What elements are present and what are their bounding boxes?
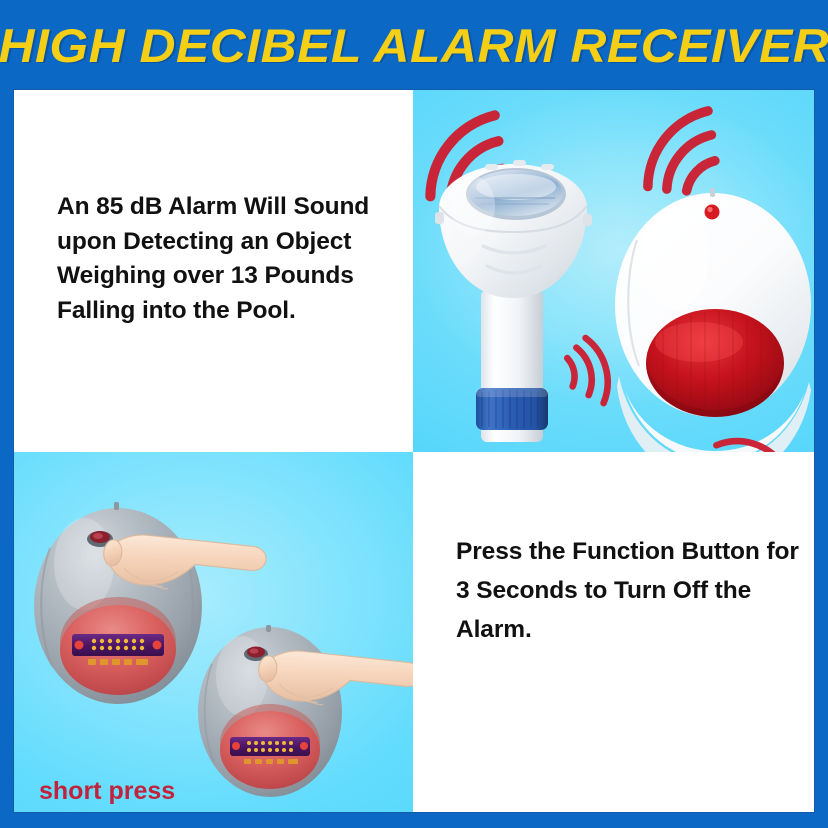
siren-red-lens	[646, 309, 784, 417]
pool-alarm-sensor	[435, 160, 592, 442]
siren-antenna-stub	[710, 188, 715, 197]
panel-bottom-right: Press the Function Button for 3 Seconds …	[413, 452, 814, 812]
led-red-left	[75, 641, 84, 650]
antenna-stub-2	[266, 625, 271, 632]
poster-title: HIGH DECIBEL ALARM RECEIVER	[0, 18, 828, 73]
panel-bottom-left: short press 3 second	[14, 452, 413, 812]
red-lens-panel	[60, 597, 176, 695]
led-strip	[72, 634, 164, 656]
sensor-side-tab-left	[435, 212, 444, 224]
siren-status-led	[705, 205, 720, 220]
content-frame: An 85 dB Alarm Will Sound upon Detecting…	[14, 90, 814, 812]
led-red-right	[153, 641, 162, 650]
function-button-instruction-text: Press the Function Button for 3 Seconds …	[456, 532, 801, 650]
red-lens-panel-2	[220, 704, 320, 789]
poster-title-bar: HIGH DECIBEL ALARM RECEIVER	[0, 0, 828, 90]
sensor-side-tab-right	[583, 214, 592, 226]
sound-wave-icon-lower-left	[556, 336, 629, 407]
panel-top-right	[413, 90, 814, 452]
caption-short-press: short press	[39, 777, 175, 806]
blue-collar-ring	[476, 388, 548, 430]
sound-wave-icon-top	[648, 111, 715, 191]
feature-description-text: An 85 dB Alarm Will Sound upon Detecting…	[57, 190, 402, 328]
siren-device-short-press	[34, 502, 202, 721]
antenna-stub	[114, 502, 119, 510]
product-infographic-poster: HIGH DECIBEL ALARM RECEIVER An 85 dB Ala…	[0, 0, 828, 828]
button-press-illustration	[14, 452, 413, 812]
panel-top-left: An 85 dB Alarm Will Sound upon Detecting…	[14, 90, 413, 452]
sensor-and-siren-illustration	[413, 90, 814, 452]
led-strip-2	[230, 737, 310, 756]
wireless-siren-receiver	[615, 188, 811, 452]
